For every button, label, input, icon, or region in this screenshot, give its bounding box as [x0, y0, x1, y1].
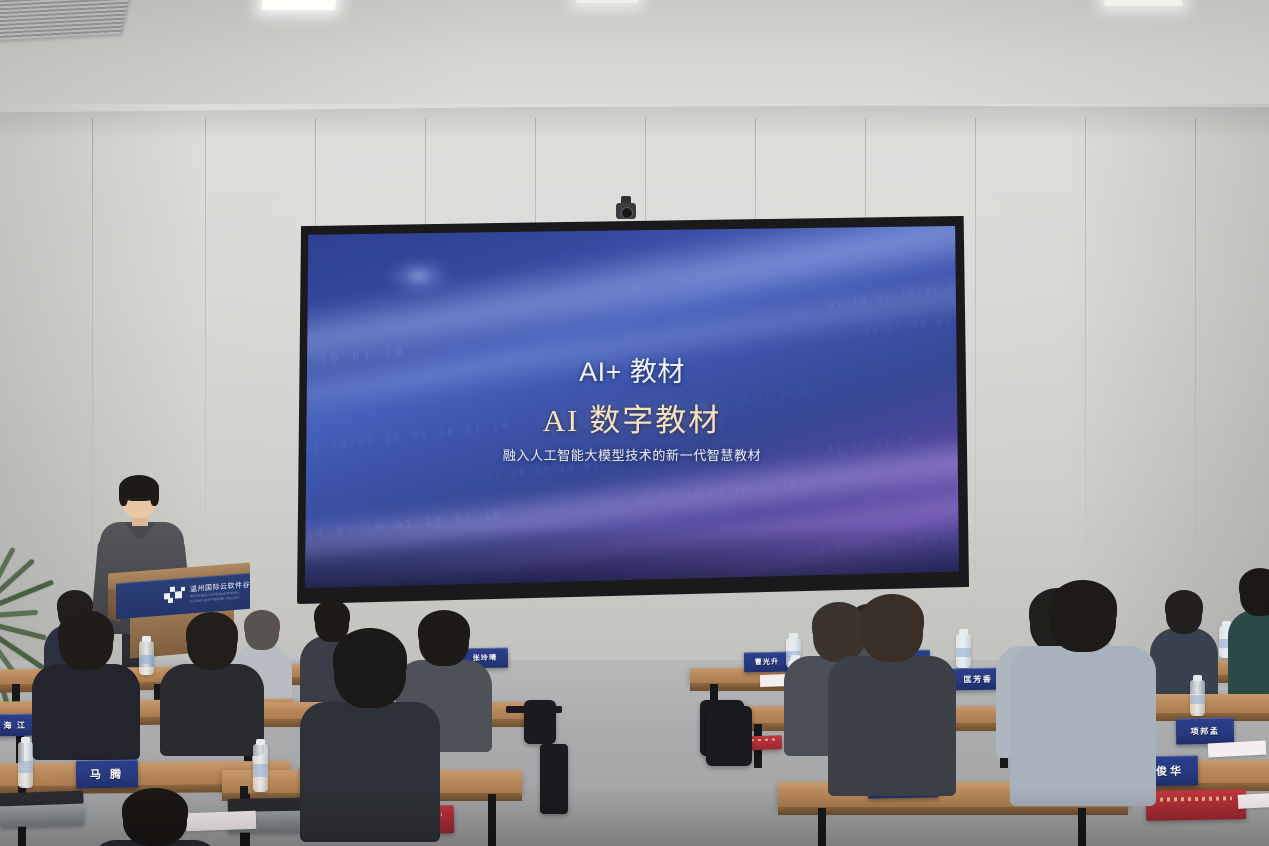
- paper-row4-b: [1238, 793, 1269, 809]
- ceiling-light-1: [261, 0, 337, 10]
- desk-row4-mid-leg-2: [488, 794, 496, 846]
- conference-room-scene: 01 10 01 10 01 10 11 10 01 1010 01 10 01…: [0, 0, 1269, 846]
- attendee-r2-7: [1228, 570, 1269, 706]
- laptop-row4-b[interactable]: [0, 803, 84, 828]
- presentation-display[interactable]: 01 10 01 10 01 10 11 10 01 1010 01 10 01…: [297, 216, 969, 604]
- bottle-label: [18, 761, 33, 773]
- nameplate-mateng: 马 腾: [76, 759, 138, 788]
- folder-gold-emboss: [1160, 797, 1232, 802]
- attendee-r4-3: [828, 596, 956, 802]
- bottle-cap: [21, 737, 30, 743]
- chair-row4-a[interactable]: [706, 706, 752, 766]
- attendee-r3-1-torso: [32, 664, 140, 760]
- bottle-row2-a: [139, 641, 154, 675]
- bottle-row4-b: [253, 744, 268, 792]
- attendee-r3-1: [32, 612, 140, 766]
- attendee-r2-6-hair: [1165, 590, 1203, 623]
- desk-row4-right-leg-1: [818, 808, 826, 846]
- attendee-r4-1-hair: [122, 788, 188, 832]
- attendee-r4-1: [90, 790, 220, 846]
- bottle-cap: [1193, 675, 1202, 681]
- bottle-row3-b: [1190, 680, 1205, 716]
- attendee-r4-2-torso: [300, 702, 440, 842]
- attendee-r3-2-hair: [186, 612, 238, 656]
- attendee-r2-3-hair: [314, 600, 350, 631]
- bottle-row4-a: [18, 742, 33, 788]
- slide-subtitle: 融入人工智能大模型技术的新一代智慧教材: [305, 445, 959, 464]
- bottle-row2-d: [956, 634, 971, 668]
- attendee-r4-3-torso: [828, 656, 956, 796]
- presenter-glasses-icon: [124, 498, 154, 506]
- desk-row4-right-leg-2: [1078, 808, 1086, 846]
- display-screen: 01 10 01 10 01 10 11 10 01 1010 01 10 01…: [305, 226, 959, 588]
- nameplate-xiangbangmeng: 项邦孟: [1176, 717, 1234, 744]
- chair-row4-b[interactable]: [540, 744, 568, 814]
- bottle-label: [956, 648, 971, 657]
- bottle-label: [139, 655, 154, 664]
- bottle-cap: [256, 739, 265, 745]
- attendee-r4-3-hair: [860, 594, 924, 645]
- attendee-r2-7-hair: [1239, 568, 1269, 604]
- attendee-r2-7-torso: [1228, 610, 1269, 700]
- attendee-r4-2: [300, 630, 440, 846]
- chair-row3-b[interactable]: [524, 700, 556, 744]
- attendee-r3-2-torso: [160, 664, 264, 756]
- attendee-r4-4-hair: [1049, 580, 1117, 635]
- attendee-r4-4: [1010, 582, 1156, 812]
- ceiling-light-2: [576, 0, 639, 3]
- bottle-label: [253, 764, 268, 776]
- organization-logo-icon: [164, 586, 186, 604]
- laptop-lid: [0, 791, 84, 807]
- folder-row4-b: [1146, 789, 1247, 821]
- attendee-r4-4-torso: [1010, 646, 1156, 806]
- attendee-r3-2: [160, 614, 264, 762]
- bottle-cap: [959, 629, 968, 635]
- bottle-label: [1190, 695, 1205, 704]
- bottle-cap: [142, 636, 151, 642]
- slide-title-main: AI+ 教材: [305, 350, 959, 389]
- attendee-r3-1-hair: [58, 610, 114, 655]
- attendee-r4-2-hair: [333, 628, 407, 689]
- ceiling-light-3: [1103, 0, 1182, 6]
- slide-title-gold: AI 数字教材: [305, 395, 959, 440]
